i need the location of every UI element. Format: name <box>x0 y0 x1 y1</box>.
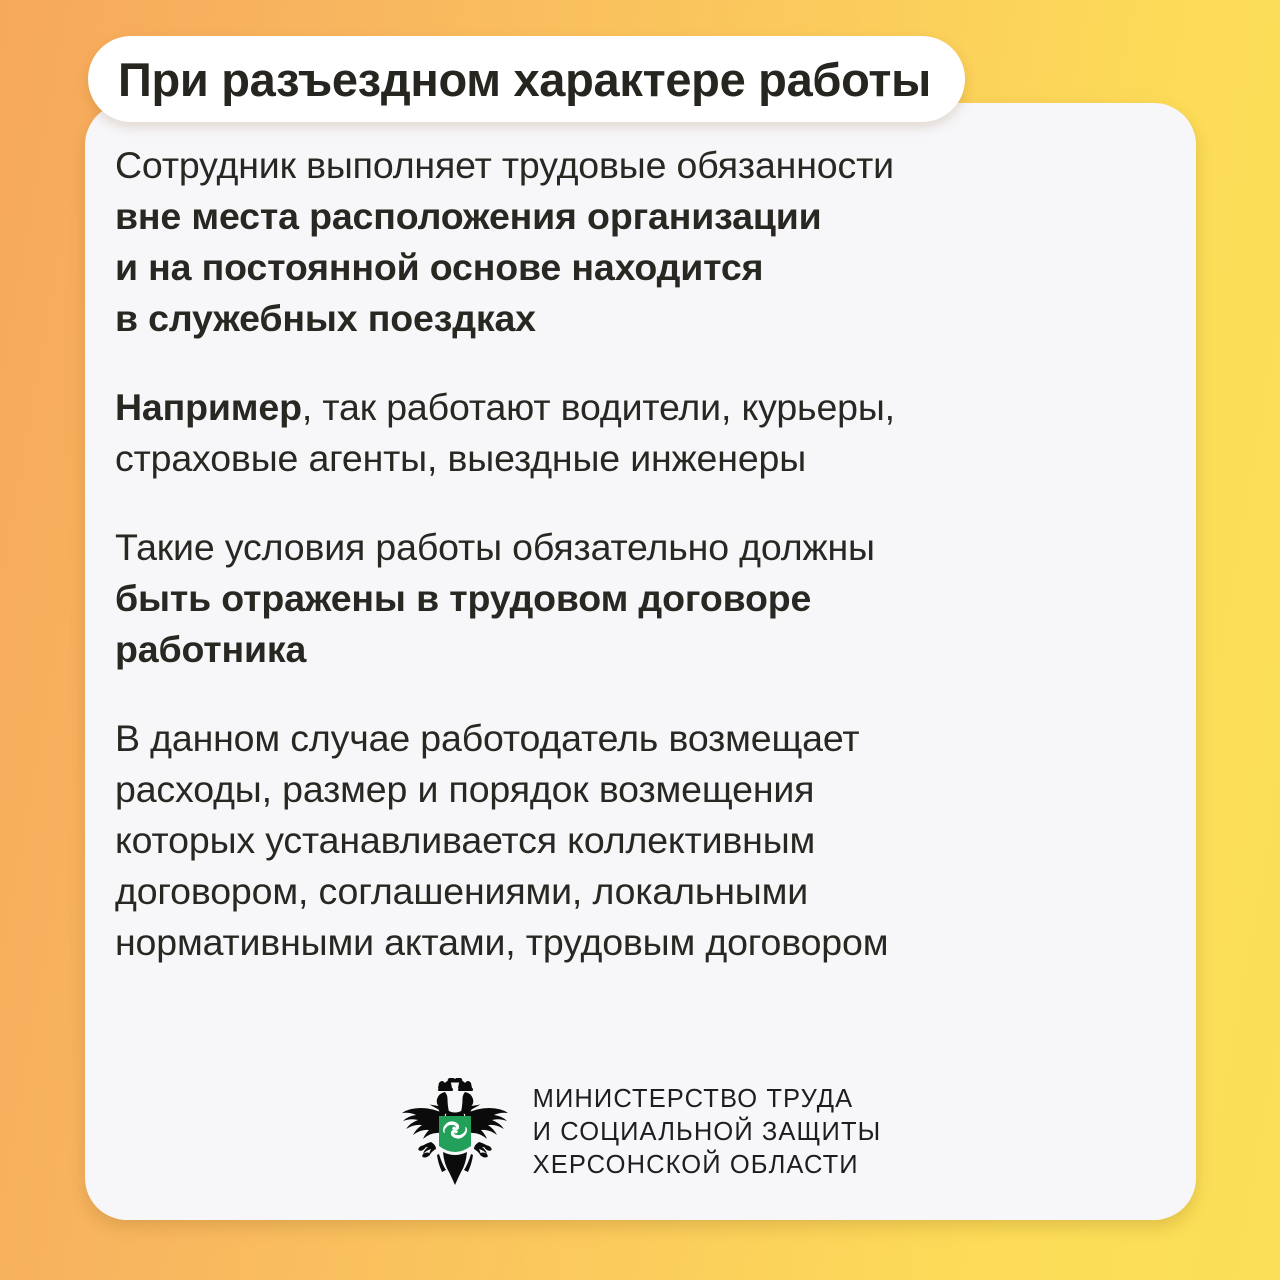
text-run: , так работают водители, курьеры, <box>302 386 895 428</box>
text-emphasis: Например <box>115 386 302 428</box>
paragraph-definition: Сотрудник выполняет трудовые обязанности… <box>115 140 1160 344</box>
text-line: в служебных поездках <box>115 293 1160 344</box>
title-pill: При разъездном характере работы <box>88 36 965 122</box>
text-line: и на постоянной основе находится <box>115 242 1160 293</box>
text-line: Такие условия работы обязательно должны <box>115 522 1160 573</box>
paragraph-contract-requirement: Такие условия работы обязательно должны … <box>115 522 1160 675</box>
text-line: быть отражены в трудовом договоре <box>115 573 1160 624</box>
footer-logo-block: МИНИСТЕРСТВО ТРУДА И СОЦИАЛЬНОЙ ЗАЩИТЫ Х… <box>0 1078 1280 1186</box>
paragraph-examples: Например, так работают водители, курьеры… <box>115 382 1160 484</box>
text-line: нормативными актами, трудовым договором <box>115 917 1160 968</box>
text-line: договором, соглашениями, локальными <box>115 866 1160 917</box>
text-line: страховые агенты, выездные инженеры <box>115 433 1160 484</box>
text-line: которых устанавливается коллективным <box>115 815 1160 866</box>
text-line: расходы, размер и порядок возмещения <box>115 764 1160 815</box>
page-title: При разъездном характере работы <box>118 56 931 103</box>
paragraph-reimbursement: В данном случае работодатель возмещает р… <box>115 713 1160 968</box>
double-headed-eagle-emblem-icon <box>399 1078 511 1186</box>
org-name-line-3: ХЕРСОНСКОЙ ОБЛАСТИ <box>533 1149 882 1182</box>
org-name-line-1: МИНИСТЕРСТВО ТРУДА <box>533 1083 882 1116</box>
text-line: Сотрудник выполняет трудовые обязанности <box>115 140 1160 191</box>
poster-canvas: При разъездном характере работы Сотрудни… <box>0 0 1280 1280</box>
body-text-area: Сотрудник выполняет трудовые обязанности… <box>115 140 1160 968</box>
text-line: вне места расположения организации <box>115 191 1160 242</box>
text-line: В данном случае работодатель возмещает <box>115 713 1160 764</box>
org-name-line-2: И СОЦИАЛЬНОЙ ЗАЩИТЫ <box>533 1116 882 1149</box>
org-name-block: МИНИСТЕРСТВО ТРУДА И СОЦИАЛЬНОЙ ЗАЩИТЫ Х… <box>533 1083 882 1182</box>
text-line: работника <box>115 624 1160 675</box>
